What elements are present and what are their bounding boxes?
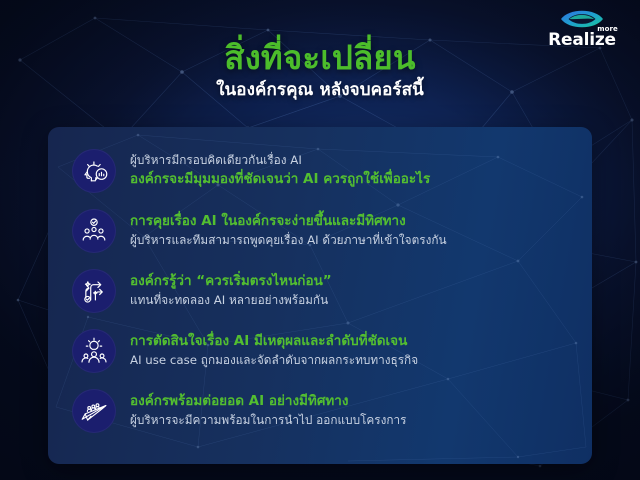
team-check-badge-icon <box>72 209 116 253</box>
list-item-primary: องค์กรพร้อมต่อยอด AI อย่างมีทิศทาง <box>130 392 572 412</box>
outcome-list: ผู้บริหารมีกรอบคิดเดียวกันเรื่อง AI องค์… <box>48 141 592 441</box>
list-item[interactable]: องค์กรพร้อมต่อยอด AI อย่างมีทิศทาง ผู้บร… <box>48 381 592 441</box>
team-paper-plane-icon <box>72 389 116 433</box>
head-lightbulb-chat-icon <box>72 149 116 193</box>
list-item-text: ผู้บริหารมีกรอบคิดเดียวกันเรื่อง AI องค์… <box>130 152 572 189</box>
list-item[interactable]: การตัดสินใจเรื่อง AI มีเหตุผลและลำดับที่… <box>48 321 592 381</box>
list-item[interactable]: การคุยเรื่อง AI ในองค์กรจะง่ายขึ้นและมีท… <box>48 201 592 261</box>
slide-heading: สิ่งที่จะเปลี่ยน ในองค์กรคุณ หลังจบคอร์ส… <box>0 40 640 100</box>
team-idea-lightbulb-icon <box>72 329 116 373</box>
list-item-primary: องค์กรรู้ว่า “ควรเริ่มตรงไหนก่อน” <box>130 272 572 292</box>
list-item-text: องค์กรรู้ว่า “ควรเริ่มตรงไหนก่อน” แทนที่… <box>130 272 572 309</box>
list-item-secondary: ผู้บริหารและทีมสามารถพูดคุยเรื่อง AI ด้ว… <box>130 232 572 250</box>
list-item[interactable]: องค์กรรู้ว่า “ควรเริ่มตรงไหนก่อน” แทนที่… <box>48 261 592 321</box>
roadmap-arrows-sparkle-icon <box>72 269 116 313</box>
list-item-primary: การตัดสินใจเรื่อง AI มีเหตุผลและลำดับที่… <box>130 332 572 352</box>
page-title: สิ่งที่จะเปลี่ยน <box>0 40 640 77</box>
list-item-primary: การคุยเรื่อง AI ในองค์กรจะง่ายขึ้นและมีท… <box>130 212 572 232</box>
list-item-secondary: ผู้บริหารจะมีความพร้อมในการนำไป ออกแบบโค… <box>130 412 572 430</box>
list-item-secondary: ผู้บริหารมีกรอบคิดเดียวกันเรื่อง AI <box>130 152 572 170</box>
list-item-primary: องค์กรจะมีมุมมองที่ชัดเจนว่า AI ควรถูกใช… <box>130 170 572 190</box>
logo-superscript: more <box>597 26 618 33</box>
list-item-secondary: AI use case ถูกมองและจัดลำดับจากผลกระทบท… <box>130 352 572 370</box>
page-subtitle: ในองค์กรคุณ หลังจบคอร์สนี้ <box>0 80 640 100</box>
outcomes-card: ผู้บริหารมีกรอบคิดเดียวกันเรื่อง AI องค์… <box>48 127 592 464</box>
list-item-text: การตัดสินใจเรื่อง AI มีเหตุผลและลำดับที่… <box>130 332 572 369</box>
list-item[interactable]: ผู้บริหารมีกรอบคิดเดียวกันเรื่อง AI องค์… <box>48 141 592 201</box>
list-item-text: การคุยเรื่อง AI ในองค์กรจะง่ายขึ้นและมีท… <box>130 212 572 249</box>
list-item-text: องค์กรพร้อมต่อยอด AI อย่างมีทิศทาง ผู้บร… <box>130 392 572 429</box>
list-item-secondary: แทนที่จะทดลอง AI หลายอย่างพร้อมกัน <box>130 292 572 310</box>
